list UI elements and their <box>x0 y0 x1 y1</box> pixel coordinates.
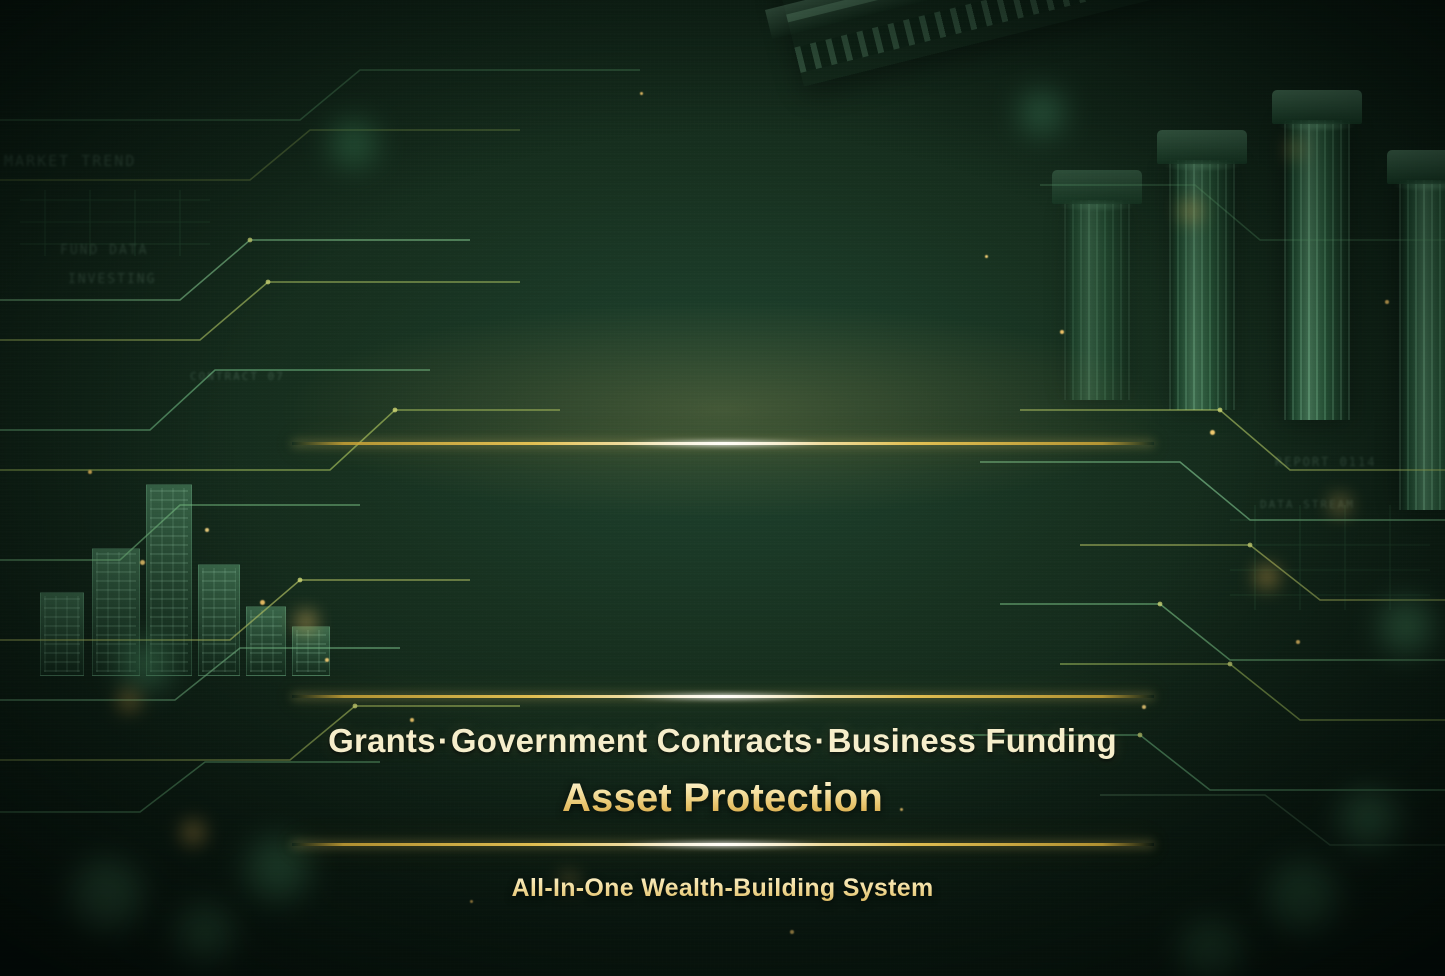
headline-line-1: THE ULTIMATE <box>313 118 1132 177</box>
subheadline-line-3: This Is the System. <box>324 609 1121 669</box>
subheadline-line-1: Stop Guessing How to Get Money <box>324 475 1121 542</box>
trademark-symbol: ™ <box>983 354 1005 379</box>
divider-bottom <box>292 843 1154 846</box>
headline-line-3: GOVERNMENT CONTRACT <box>313 277 1132 341</box>
feature-separator: · <box>812 722 827 759</box>
tagline: All-In-One Wealth-Building System <box>512 874 934 903</box>
banner-content: THE ULTIMATE FUNDING & GOVERNMENT CONTRA… <box>0 0 1445 976</box>
subheadline-block: Stop Guessing How to Get Money for Your … <box>324 475 1121 669</box>
divider-middle <box>292 695 1154 698</box>
features-block: Grants·Government Contracts·Business Fun… <box>328 722 1117 821</box>
subheadline-line-2: for Your Business. <box>324 542 1121 609</box>
headline-line-4-text: WEALTH BUNDLE <box>440 340 983 409</box>
feature-item-grants: Grants <box>328 722 436 759</box>
divider-top <box>292 442 1154 445</box>
feature-item-government-contracts: Government Contracts <box>451 722 813 759</box>
headline-block: THE ULTIMATE FUNDING & GOVERNMENT CONTRA… <box>313 118 1132 408</box>
features-line: Grants·Government Contracts·Business Fun… <box>328 722 1117 760</box>
headline-line-4: WEALTH BUNDLE™ <box>440 343 1005 407</box>
headline-line-2: FUNDING & <box>313 179 1132 271</box>
feature-item-business-funding: Business Funding <box>828 722 1117 759</box>
feature-accent-asset-protection: Asset Protection <box>328 776 1117 821</box>
feature-separator: · <box>436 722 451 759</box>
promo-banner: MARKET TREND FUND DATA INVESTING REPORT … <box>0 0 1445 976</box>
